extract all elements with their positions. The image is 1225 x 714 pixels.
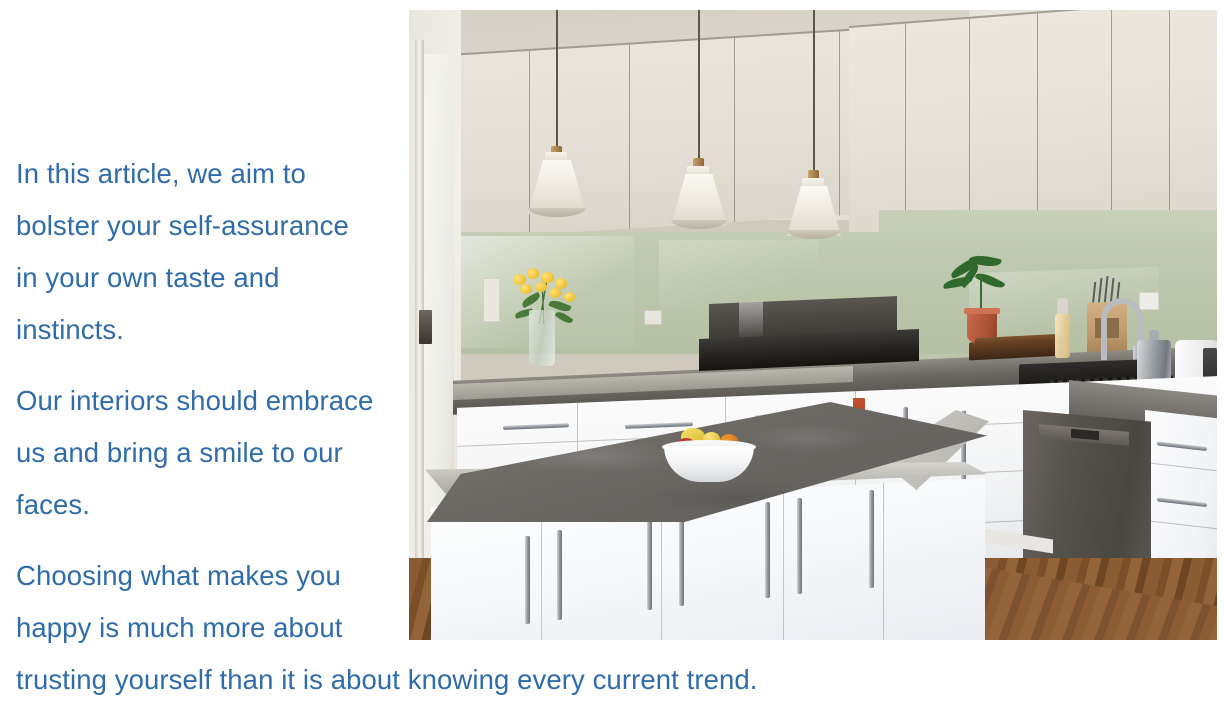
article-body: In this article, we aim to bolster your … [0, 0, 1225, 714]
photo-float-spacer [393, 10, 1201, 640]
page-root: In this article, we aim to bolster your … [0, 0, 1225, 714]
